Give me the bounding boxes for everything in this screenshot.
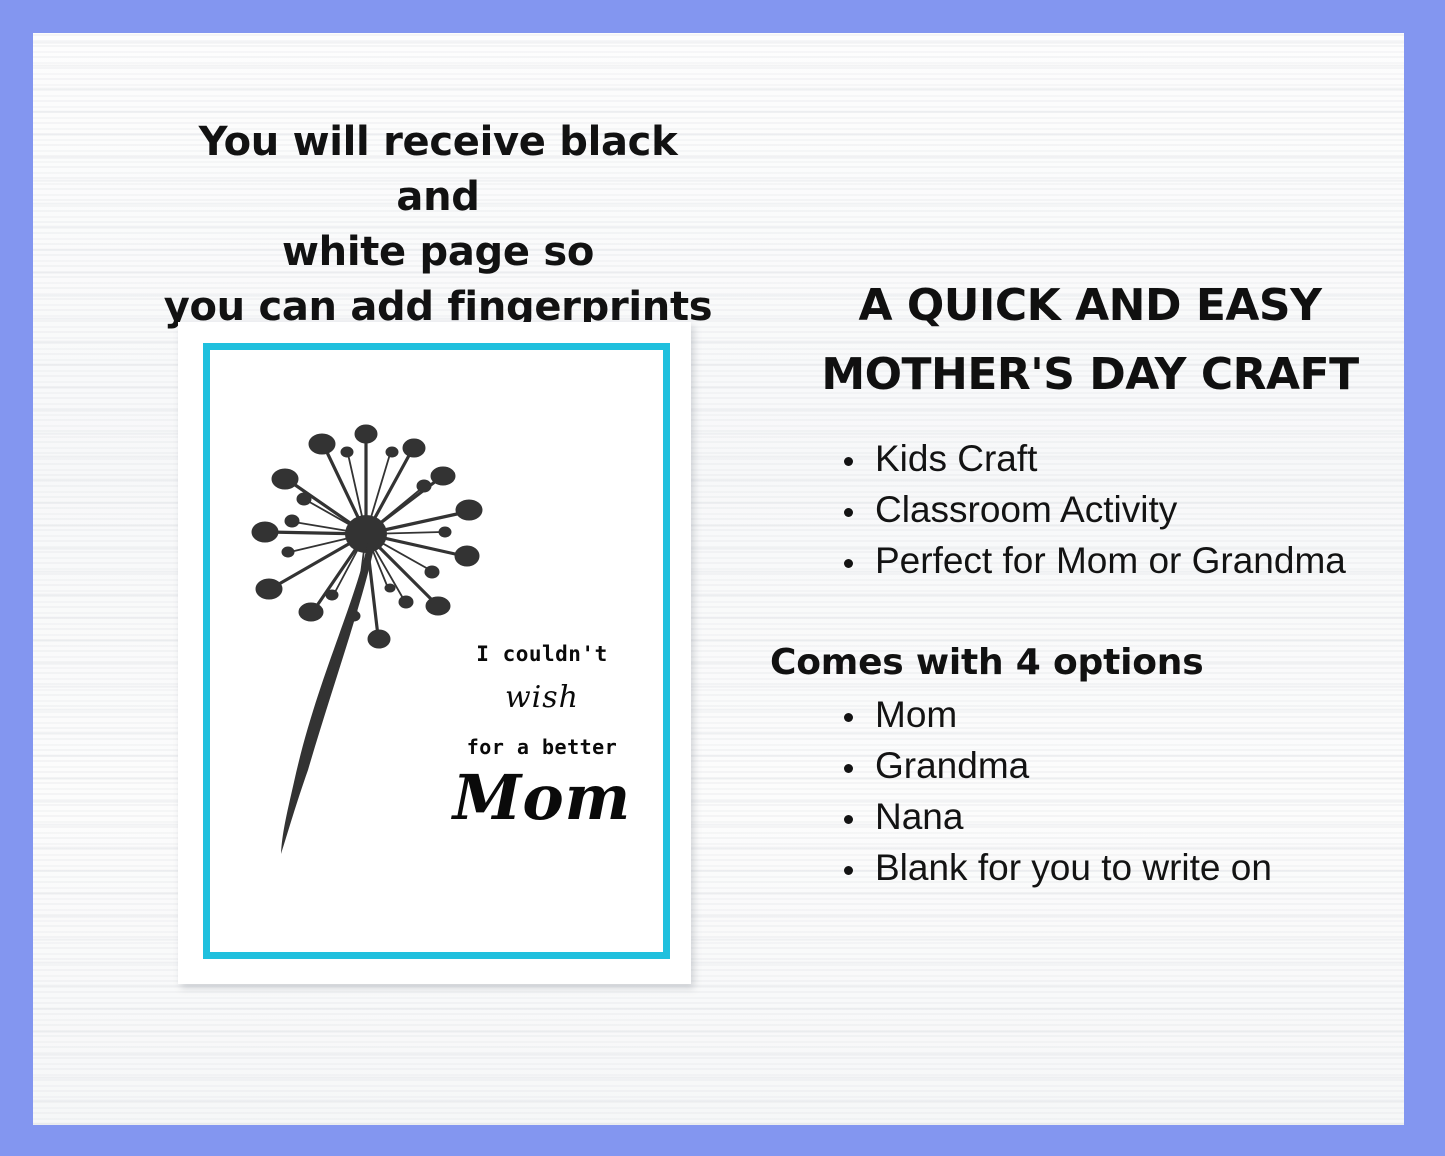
left-heading-line-2: white page so (153, 225, 723, 280)
feature-list: Kids Craft Classroom Activity Perfect fo… (770, 433, 1404, 586)
options-heading: Comes with 4 options (770, 639, 1404, 687)
right-column: A QUICK AND EASY MOTHER'S DAY CRAFT Kids… (770, 271, 1404, 893)
list-item: Perfect for Mom or Grandma (770, 535, 1404, 586)
left-heading: You will receive black and white page so… (153, 115, 723, 335)
page-title-line-2: MOTHER'S DAY CRAFT (770, 340, 1404, 409)
list-item: Blank for you to write on (770, 842, 1404, 893)
list-item: Kids Craft (770, 433, 1404, 484)
card-sentiment: I couldn't wish for a better Mom (432, 642, 652, 829)
list-item: Nana (770, 791, 1404, 842)
sentiment-line-1: I couldn't (432, 642, 652, 666)
card-preview: I couldn't wish for a better Mom (178, 322, 691, 984)
page-title-line-1: A QUICK AND EASY (770, 271, 1404, 340)
listing-image-canvas: You will receive black and white page so… (0, 0, 1445, 1156)
list-item: Classroom Activity (770, 484, 1404, 535)
list-item: Mom (770, 689, 1404, 740)
left-heading-line-1: You will receive black and (153, 115, 723, 225)
sentiment-line-2: wish (432, 680, 652, 715)
sentiment-line-3: for a better (432, 735, 652, 759)
content-panel: You will receive black and white page so… (33, 33, 1404, 1125)
list-item: Grandma (770, 740, 1404, 791)
page-title: A QUICK AND EASY MOTHER'S DAY CRAFT (770, 271, 1404, 409)
options-list: Mom Grandma Nana Blank for you to write … (770, 689, 1404, 893)
sentiment-line-4: Mom (432, 767, 652, 829)
